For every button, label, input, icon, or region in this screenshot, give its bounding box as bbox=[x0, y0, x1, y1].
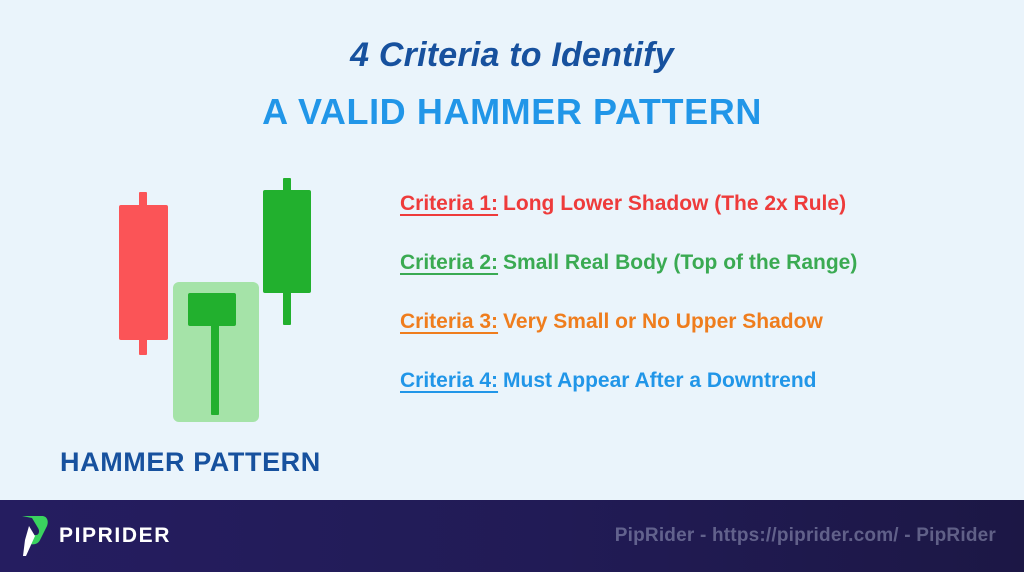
criteria-4-text: Must Appear After a Downtrend bbox=[503, 369, 816, 392]
criteria-1-key: Criteria 1: bbox=[400, 192, 498, 215]
criteria-2-text: Small Real Body (Top of the Range) bbox=[503, 251, 857, 274]
footer-credit-text: PipRider - https://piprider.com/ - PipRi… bbox=[615, 525, 996, 547]
footer-bar: PIPRIDER PipRider - https://piprider.com… bbox=[0, 500, 1024, 572]
criteria-3-text: Very Small or No Upper Shadow bbox=[503, 310, 823, 333]
brand-logo: PIPRIDER bbox=[16, 514, 171, 558]
criteria-4-key: Criteria 4: bbox=[400, 369, 498, 392]
criteria-list: Criteria 1:Long Lower Shadow (The 2x Rul… bbox=[400, 193, 1000, 391]
criteria-item-3: Criteria 3:Very Small or No Upper Shadow bbox=[400, 311, 1000, 332]
criteria-item-1: Criteria 1:Long Lower Shadow (The 2x Rul… bbox=[400, 193, 1000, 214]
piprider-p-logo-icon bbox=[16, 514, 50, 558]
criteria-2-key: Criteria 2: bbox=[400, 251, 498, 274]
page-title-line-2: A VALID HAMMER PATTERN bbox=[0, 91, 1024, 132]
infographic-canvas: 4 Criteria to Identify A VALID HAMMER PA… bbox=[0, 0, 1024, 572]
heading-block: 4 Criteria to Identify A VALID HAMMER PA… bbox=[0, 36, 1024, 132]
pattern-label: HAMMER PATTERN bbox=[60, 447, 321, 478]
candlestick-illustration bbox=[0, 160, 390, 450]
brand-name: PIPRIDER bbox=[59, 524, 171, 548]
criteria-item-2: Criteria 2:Small Real Body (Top of the R… bbox=[400, 252, 1000, 273]
criteria-3-key: Criteria 3: bbox=[400, 310, 498, 333]
criteria-1-text: Long Lower Shadow (The 2x Rule) bbox=[503, 192, 846, 215]
hammer-candle-body bbox=[188, 293, 236, 326]
page-title-line-1: 4 Criteria to Identify bbox=[0, 36, 1024, 75]
criteria-item-4: Criteria 4:Must Appear After a Downtrend bbox=[400, 370, 1000, 391]
bearish-candle-body bbox=[119, 205, 168, 340]
bullish-candle-body bbox=[263, 190, 311, 293]
